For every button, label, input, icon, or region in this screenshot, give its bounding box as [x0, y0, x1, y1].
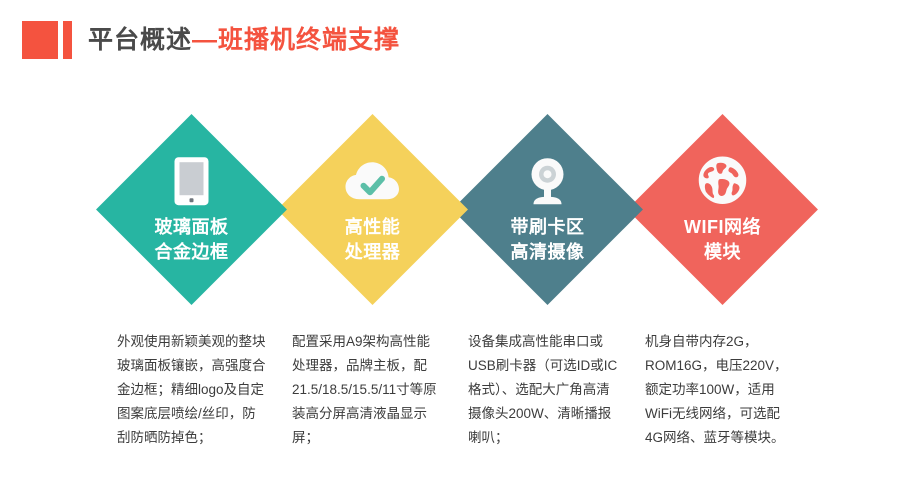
- feature-diamond-wifi[interactable]: WIFI网络 模块: [627, 114, 818, 305]
- feature-diamond-glass-panel[interactable]: 玻璃面板 合金边框: [96, 114, 287, 305]
- feature-description-camera: 设备集成高性能串口或USB刷卡器（可选ID或IC格式）、选配大广角高清摄像头20…: [468, 330, 618, 450]
- cloud-check-icon: [280, 155, 466, 207]
- feature-description-processor: 配置采用A9架构高性能处理器，品牌主板，配21.5/18.5/15.5/11寸等…: [292, 330, 442, 450]
- page-title-main: 平台概述: [88, 26, 192, 54]
- webcam-icon: [455, 155, 641, 207]
- feature-diamond-content: WIFI网络 模块: [630, 155, 816, 265]
- page-title: 平台概述—班播机终端支撑: [88, 24, 400, 56]
- feature-diamond-label: WIFI网络 模块: [630, 215, 816, 265]
- feature-diamond-content: 带刷卡区 高清摄像: [455, 155, 641, 265]
- feature-diamond-label: 玻璃面板 合金边框: [99, 215, 285, 265]
- feature-diamond-processor[interactable]: 高性能 处理器: [277, 114, 468, 305]
- feature-description-glass-panel: 外观使用新颖美观的整块玻璃面板镶嵌，高强度合金边框；精细logo及自定图案底层喷…: [117, 330, 267, 450]
- globe-icon: [630, 155, 816, 207]
- feature-diamond-content: 高性能 处理器: [280, 155, 466, 265]
- header-accent-bar-wide: [22, 21, 58, 59]
- feature-description-wifi: 机身自带内存2G，ROM16G，电压220V，额定功率100W，适用WiFi无线…: [645, 330, 795, 450]
- feature-diamond-content: 玻璃面板 合金边框: [99, 155, 285, 265]
- page-title-accent: —班播机终端支撑: [192, 26, 400, 54]
- feature-diamond-label: 高性能 处理器: [280, 215, 466, 265]
- feature-diamond-label: 带刷卡区 高清摄像: [455, 215, 641, 265]
- tablet-icon: [98, 155, 284, 207]
- header-accent-bar-narrow: [63, 21, 72, 59]
- feature-diamond-camera[interactable]: 带刷卡区 高清摄像: [452, 114, 643, 305]
- page-header: 平台概述—班播机终端支撑: [0, 0, 900, 74]
